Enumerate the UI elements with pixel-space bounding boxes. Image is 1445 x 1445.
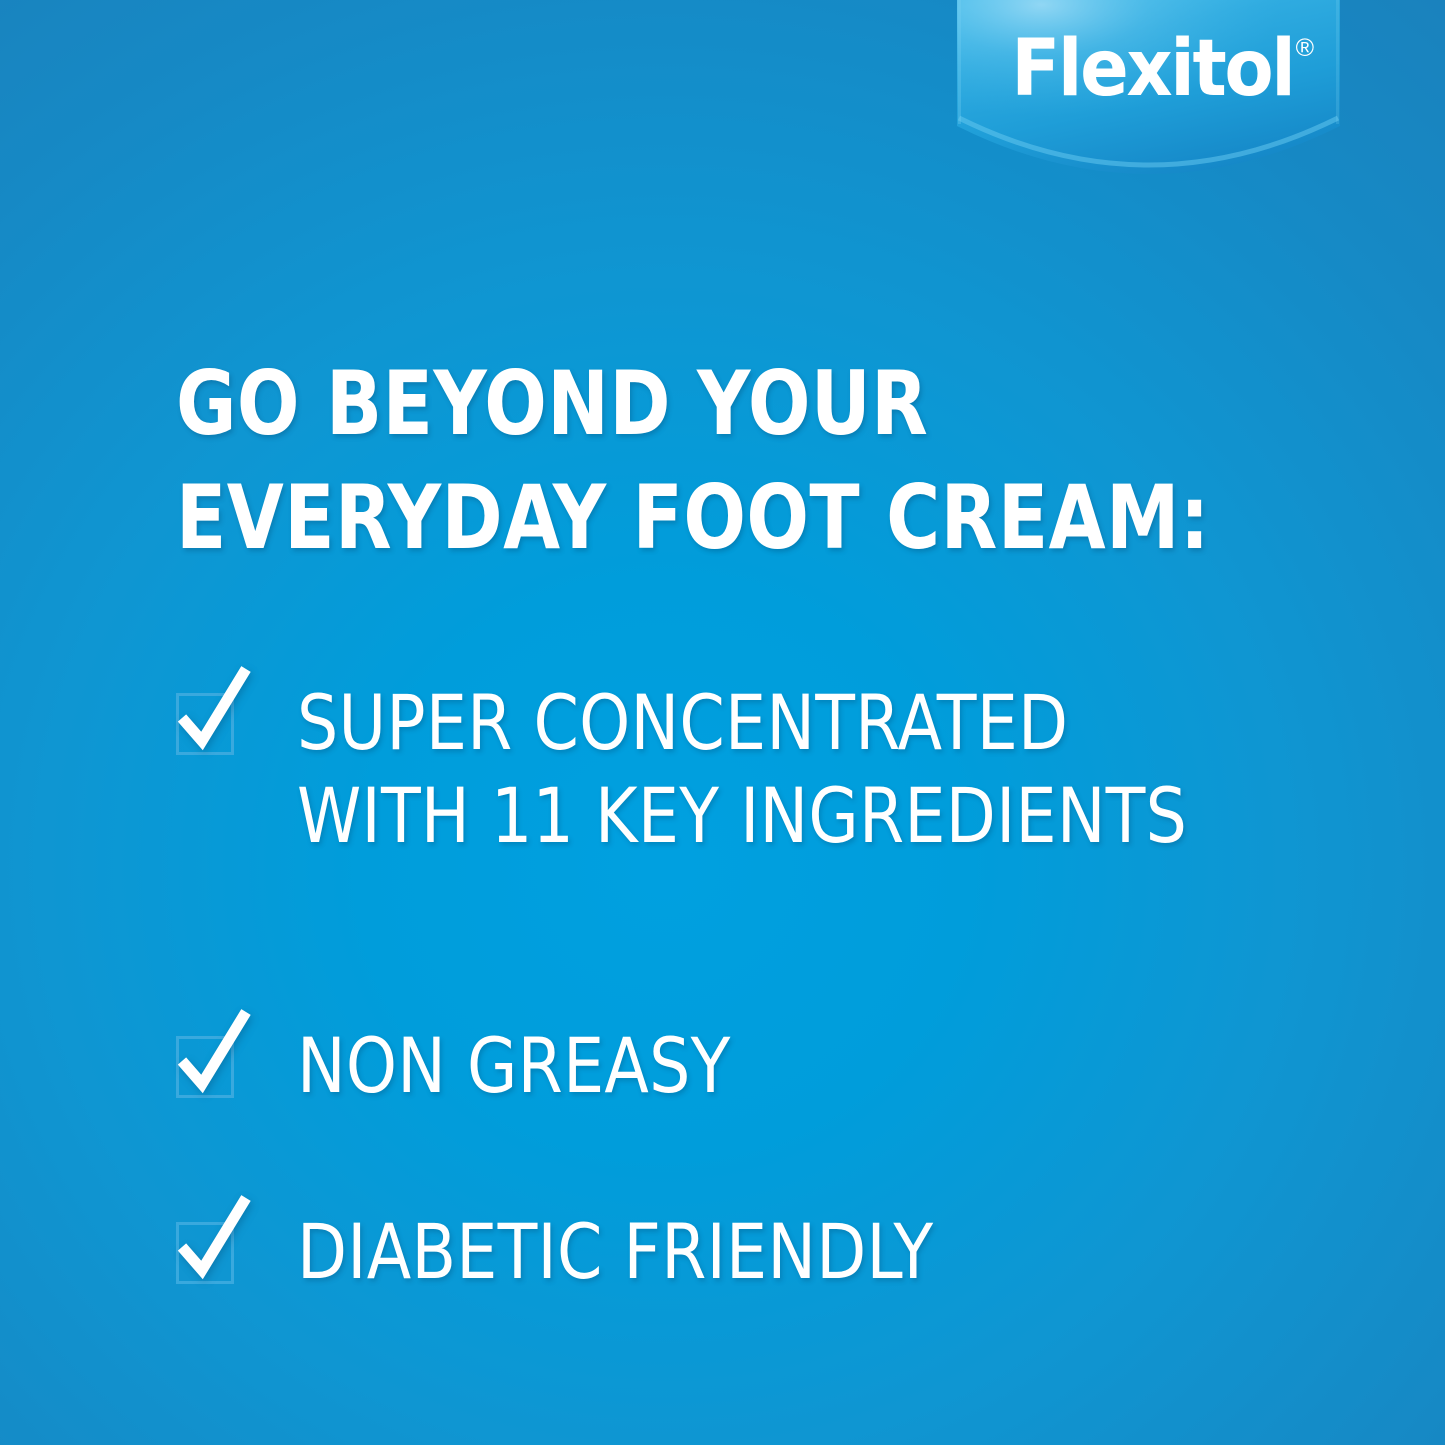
benefit-text: SUPER CONCENTRATED WITH 11 KEY INGREDIEN… — [297, 676, 1187, 862]
promo-banner: Flexitol ® GO BEYOND YOUR EVERYDAY FOOT … — [0, 0, 1445, 1445]
checkmark-icon — [172, 663, 258, 759]
logo-wordmark: Flexitol ® — [957, 0, 1340, 144]
checkbox-checked — [176, 1222, 234, 1284]
headline: GO BEYOND YOUR EVERYDAY FOOT CREAM: — [176, 347, 1336, 575]
checkbox-checked — [176, 693, 234, 755]
headline-line-1: GO BEYOND YOUR — [176, 347, 1255, 461]
checkbox-checked — [176, 1036, 234, 1098]
benefit-line-2: WITH 11 KEY INGREDIENTS — [297, 769, 1187, 862]
benefit-line-1: NON GREASY — [297, 1019, 731, 1112]
benefit-text: DIABETIC FRIENDLY — [297, 1205, 933, 1298]
flexitol-logo: Flexitol ® — [957, 0, 1340, 190]
benefit-line-1: SUPER CONCENTRATED — [297, 676, 1187, 769]
logo-word: Flexitol — [1011, 30, 1293, 108]
benefits-list: SUPER CONCENTRATED WITH 11 KEY INGREDIEN… — [176, 676, 1376, 1298]
registered-trademark-symbol: ® — [1296, 36, 1314, 61]
benefit-line-1: DIABETIC FRIENDLY — [297, 1205, 933, 1298]
list-item: DIABETIC FRIENDLY — [176, 1205, 1376, 1298]
list-item: SUPER CONCENTRATED WITH 11 KEY INGREDIEN… — [176, 676, 1376, 862]
benefit-text: NON GREASY — [297, 1019, 731, 1112]
checkmark-icon — [172, 1006, 258, 1102]
list-item: NON GREASY — [176, 1019, 1376, 1112]
headline-line-2: EVERYDAY FOOT CREAM: — [176, 461, 1255, 575]
checkmark-icon — [172, 1192, 258, 1288]
